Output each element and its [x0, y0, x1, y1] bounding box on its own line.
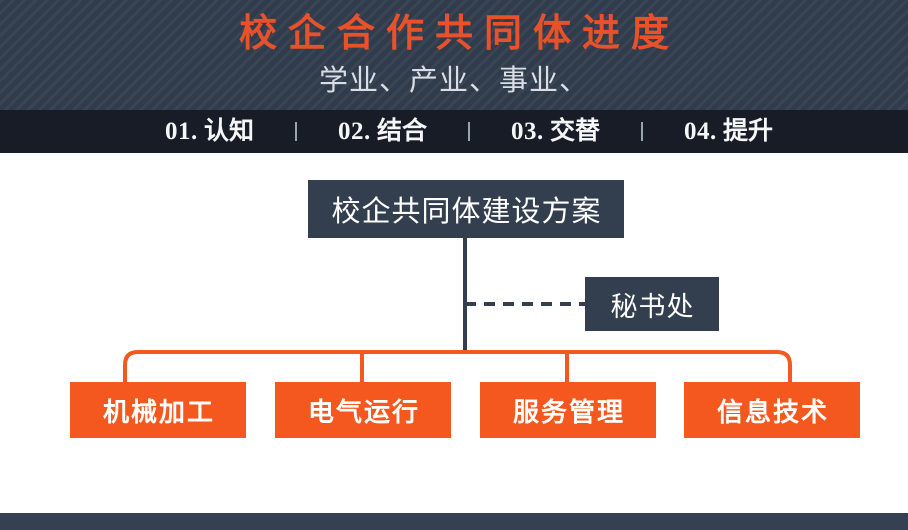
node-leaf-service-management[interactable]: 服务管理 — [480, 382, 656, 438]
slide-header: 校企合作共同体进度 学业、产业、事业、 — [0, 0, 908, 110]
nav-item-02-label: 结合 — [377, 118, 427, 145]
nav-item-04-number: 04. — [684, 118, 717, 145]
nav-item-04-label: 提升 — [723, 118, 773, 145]
nav-item-03[interactable]: 03. 交替 — [508, 110, 603, 153]
nav-item-03-label: 交替 — [550, 118, 600, 145]
nav-item-04[interactable]: 04. 提升 — [681, 110, 776, 153]
page-title: 校企合作共同体进度 — [0, 12, 908, 56]
nav-item-01-label: 认知 — [204, 118, 254, 145]
nav-item-01-number: 01. — [165, 118, 198, 145]
nav-item-02-number: 02. — [338, 118, 371, 145]
node-leaf-information-technology[interactable]: 信息技术 — [684, 382, 860, 438]
page-subtitle: 学业、产业、事业、 — [0, 62, 908, 100]
nav-item-03-number: 03. — [511, 118, 544, 145]
node-leaf-electrical-operation[interactable]: 电气运行 — [275, 382, 451, 438]
section-nav-bar: 01. 认知 02. 结合 03. 交替 04. 提升 — [0, 110, 908, 153]
nav-divider-3 — [641, 122, 643, 141]
slide-footer-bar — [0, 513, 908, 530]
nav-item-02[interactable]: 02. 结合 — [335, 110, 430, 153]
nav-divider-1 — [295, 122, 297, 141]
nav-divider-2 — [468, 122, 470, 141]
node-root[interactable]: 校企共同体建设方案 — [308, 180, 624, 238]
node-secretariat[interactable]: 秘书处 — [585, 277, 719, 331]
node-leaf-mechanical-processing[interactable]: 机械加工 — [70, 382, 246, 438]
leaf-bus-line — [125, 352, 790, 382]
org-chart-diagram: 校企共同体建设方案 秘书处 机械加工 电气运行 服务管理 信息技术 — [0, 153, 908, 513]
nav-item-01[interactable]: 01. 认知 — [162, 110, 257, 153]
slide-canvas: 校企合作共同体进度 学业、产业、事业、 01. 认知 02. 结合 03. 交替… — [0, 0, 908, 530]
